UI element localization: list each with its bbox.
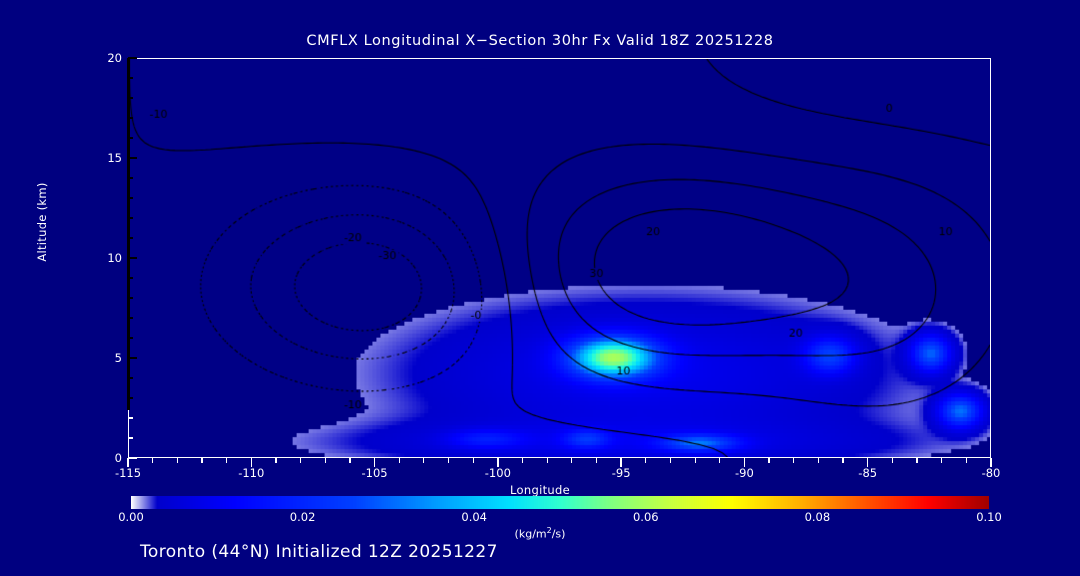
- colorbar-tick-label: 0.10: [954, 510, 1024, 524]
- x-tick-minor: [719, 458, 720, 463]
- x-tick-minor: [152, 458, 153, 463]
- x-tick-minor: [941, 458, 942, 463]
- x-tick-minor: [596, 458, 597, 463]
- x-tick-minor: [547, 458, 548, 463]
- y-tick-major: [128, 257, 137, 258]
- x-tick-minor: [473, 458, 474, 463]
- y-tick-minor: [128, 197, 133, 198]
- colorbar-unit-prefix: (kg/m: [515, 528, 547, 541]
- x-tick-minor: [695, 458, 696, 463]
- y-axis-label: Altitude (km): [35, 162, 49, 282]
- y-tick-label: 0: [82, 451, 122, 465]
- y-tick-label: 20: [82, 51, 122, 65]
- footer-caption: Toronto (44°N) Initialized 12Z 20251227: [140, 542, 498, 562]
- colorbar-tick-label: 0.06: [611, 510, 681, 524]
- y-tick-minor: [128, 117, 133, 118]
- y-tick-minor: [128, 417, 133, 418]
- x-tick-minor: [818, 458, 819, 463]
- y-tick-minor: [128, 237, 133, 238]
- colorbar-tick-label: 0.08: [782, 510, 852, 524]
- y-tick-minor: [128, 337, 133, 338]
- x-tick-label: -115: [98, 466, 158, 480]
- y-tick-major: [128, 457, 137, 458]
- x-tick-label: -100: [468, 466, 528, 480]
- colorbar-tick-label: 0.02: [268, 510, 338, 524]
- y-tick-minor: [128, 97, 133, 98]
- x-tick-minor: [892, 458, 893, 463]
- chart-canvas: CMFLX Longitudinal X−Section 30hr Fx Val…: [0, 0, 1080, 576]
- contour-layer: [129, 59, 990, 457]
- x-tick-minor: [670, 458, 671, 463]
- x-tick-minor: [226, 458, 227, 463]
- x-tick-minor: [300, 458, 301, 463]
- x-tick-minor: [768, 458, 769, 463]
- y-tick-minor: [128, 177, 133, 178]
- x-tick-minor: [349, 458, 350, 463]
- x-tick-label: -95: [591, 466, 651, 480]
- y-tick-minor: [128, 297, 133, 298]
- colorbar-unit-suffix: /s): [552, 528, 566, 541]
- y-tick-minor: [128, 437, 133, 438]
- x-tick-label: -105: [345, 466, 405, 480]
- x-tick-minor: [966, 458, 967, 463]
- x-tick-minor: [645, 458, 646, 463]
- plot-area: [128, 58, 991, 458]
- colorbar-tick-label: 0.00: [96, 510, 166, 524]
- x-tick-minor: [916, 458, 917, 463]
- y-tick-minor: [128, 317, 133, 318]
- x-tick-minor: [399, 458, 400, 463]
- x-tick-minor: [793, 458, 794, 463]
- y-tick-minor: [128, 377, 133, 378]
- y-tick-major: [128, 357, 137, 358]
- colorbar-unit-label: (kg/m2/s): [0, 526, 1080, 541]
- x-tick-minor: [201, 458, 202, 463]
- y-tick-label: 15: [82, 151, 122, 165]
- colorbar-tick-label: 0.04: [439, 510, 509, 524]
- x-tick-minor: [571, 458, 572, 463]
- x-tick-minor: [448, 458, 449, 463]
- x-tick-label: -90: [714, 466, 774, 480]
- y-tick-minor: [128, 137, 133, 138]
- chart-title: CMFLX Longitudinal X−Section 30hr Fx Val…: [0, 33, 1080, 49]
- x-tick-minor: [423, 458, 424, 463]
- y-tick-minor: [128, 217, 133, 218]
- y-tick-minor: [128, 397, 133, 398]
- y-tick-minor: [128, 77, 133, 78]
- x-tick-label: -110: [221, 466, 281, 480]
- x-tick-label: -85: [838, 466, 898, 480]
- x-tick-minor: [842, 458, 843, 463]
- y-tick-major: [128, 57, 137, 58]
- y-tick-label: 5: [82, 351, 122, 365]
- y-tick-major: [128, 157, 137, 158]
- x-tick-minor: [177, 458, 178, 463]
- y-tick-label: 10: [82, 251, 122, 265]
- x-tick-label: -80: [961, 466, 1021, 480]
- colorbar: [131, 496, 989, 509]
- x-tick-minor: [275, 458, 276, 463]
- x-tick-minor: [325, 458, 326, 463]
- x-tick-minor: [522, 458, 523, 463]
- y-tick-minor: [128, 277, 133, 278]
- x-axis-label: Longitude: [0, 483, 1080, 497]
